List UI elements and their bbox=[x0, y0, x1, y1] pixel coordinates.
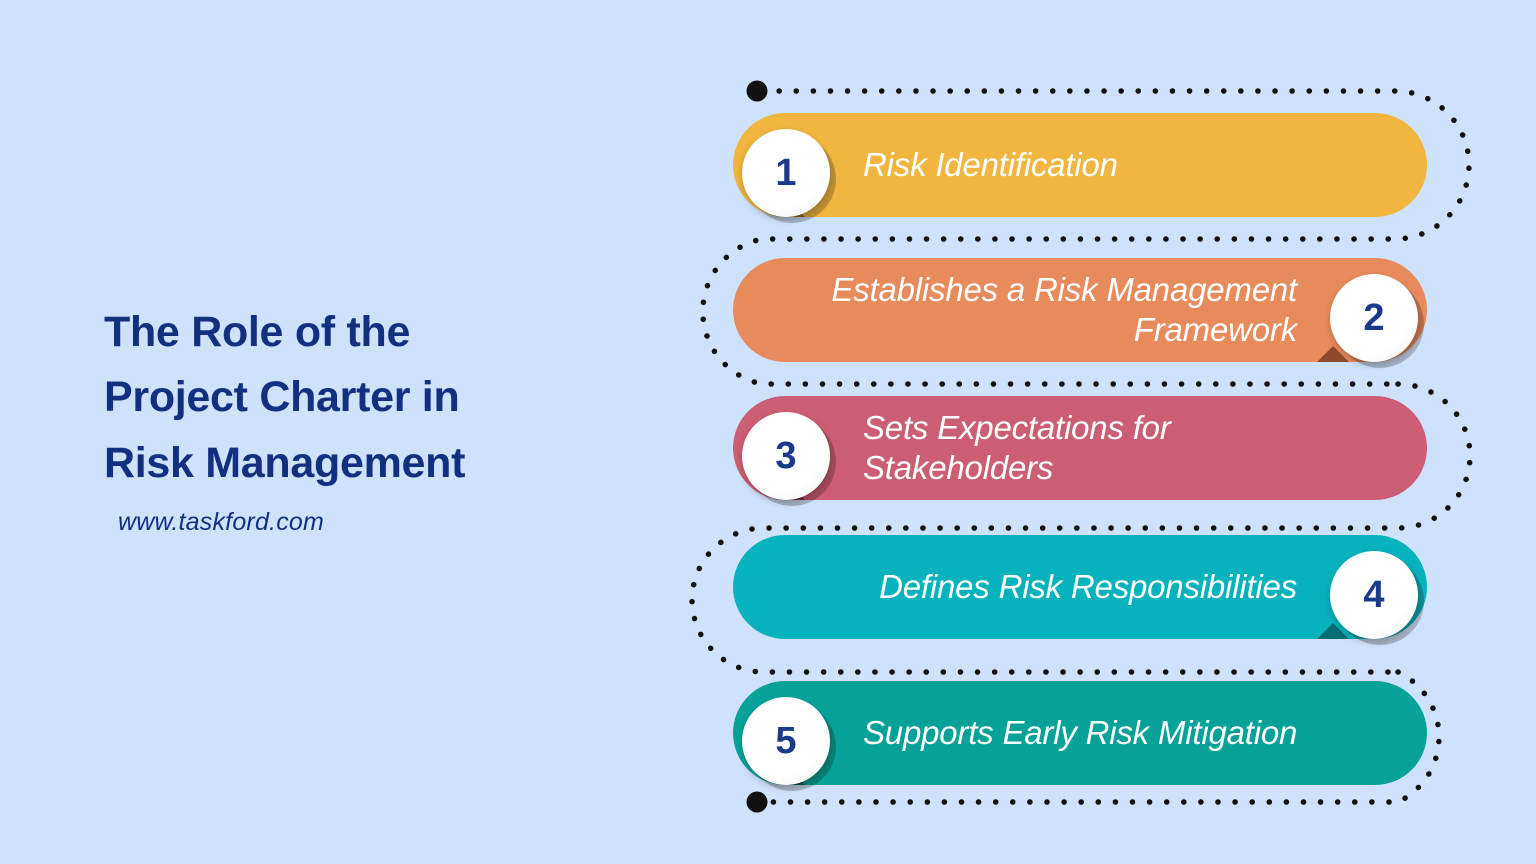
path-start-dot bbox=[747, 81, 768, 102]
step-label-4: Defines Risk Responsibilities bbox=[773, 535, 1297, 639]
site-url: www.taskford.com bbox=[118, 508, 644, 537]
step-number-2: 2 bbox=[1363, 297, 1384, 340]
step-number-circle-4[interactable]: 4 bbox=[1330, 551, 1418, 639]
page-title: The Role of the Project Charter in Risk … bbox=[104, 300, 644, 496]
step-label-2: Establishes a Risk Management Framework bbox=[773, 258, 1297, 362]
step-row-3[interactable]: 3 Sets Expectations for Stakeholders bbox=[733, 396, 1427, 500]
step-row-4[interactable]: 4 Defines Risk Responsibilities bbox=[733, 535, 1427, 639]
step-label-1: Risk Identification bbox=[863, 113, 1387, 217]
step-row-2[interactable]: 2 Establishes a Risk Management Framewor… bbox=[733, 258, 1427, 362]
step-row-1[interactable]: 1 Risk Identification bbox=[733, 113, 1427, 217]
step-number-circle-5[interactable]: 5 bbox=[742, 697, 830, 785]
step-number-circle-3[interactable]: 3 bbox=[742, 412, 830, 500]
step-number-5: 5 bbox=[775, 720, 796, 763]
path-end-dot bbox=[747, 792, 768, 813]
step-number-4: 4 bbox=[1363, 574, 1384, 617]
title-block: The Role of the Project Charter in Risk … bbox=[104, 300, 644, 537]
step-label-3: Sets Expectations for Stakeholders bbox=[863, 396, 1387, 500]
step-number-1: 1 bbox=[775, 152, 796, 195]
step-row-5[interactable]: 5 Supports Early Risk Mitigation bbox=[733, 681, 1427, 785]
infographic-canvas: The Role of the Project Charter in Risk … bbox=[0, 0, 1536, 864]
step-number-circle-2[interactable]: 2 bbox=[1330, 274, 1418, 362]
step-number-circle-1[interactable]: 1 bbox=[742, 129, 830, 217]
step-label-5: Supports Early Risk Mitigation bbox=[863, 681, 1387, 785]
step-number-3: 3 bbox=[775, 435, 796, 478]
